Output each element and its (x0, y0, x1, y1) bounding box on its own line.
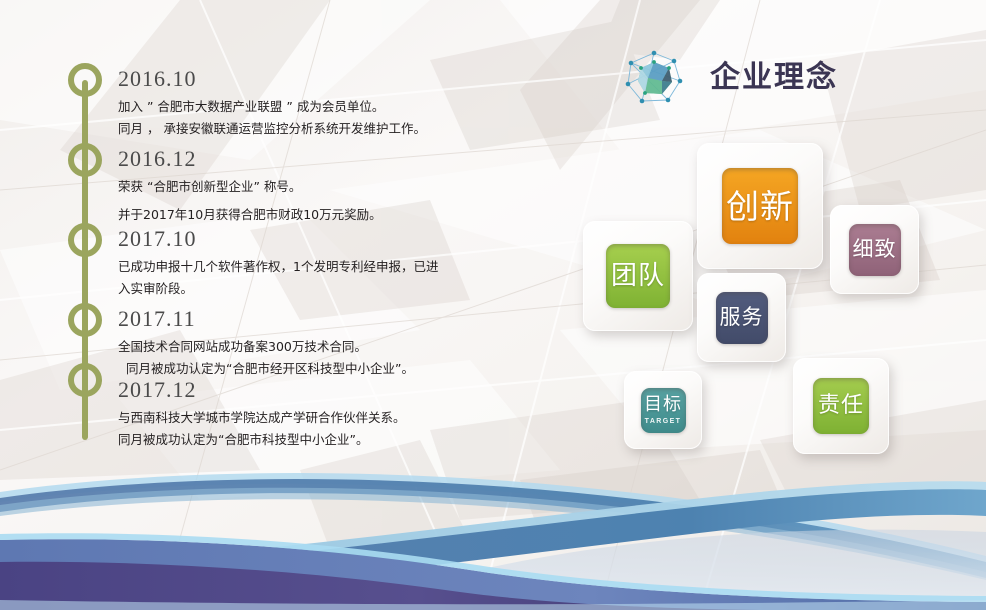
value-card-label: 细致 (853, 239, 897, 260)
timeline-entry: 2016.12 荣获 “合肥市创新型企业” 称号。 并于2017年10月获得合肥… (118, 146, 518, 226)
timeline-entry-body: 加入 ” 合肥市大数据产业联盟 ” 成为会员单位。 同月 ， 承接安徽联通运营监… (118, 96, 518, 140)
timeline-marker-2[interactable] (68, 143, 102, 177)
timeline-entry-body: 全国技术合同网站成功备案300万技术合同。 同月被成功认定为“合肥市经开区科技型… (118, 336, 518, 380)
timeline-detail-line: 全国技术合同网站成功备案300万技术合同。 (118, 336, 518, 358)
timeline-detail-line: 加入 ” 合肥市大数据产业联盟 ” 成为会员单位。 (118, 96, 518, 118)
value-card-meticulous[interactable]: 细致 (830, 205, 919, 294)
timeline-date: 2016.10 (118, 66, 518, 92)
timeline-entry-body: 荣获 “合肥市创新型企业” 称号。 并于2017年10月获得合肥市财政10万元奖… (118, 176, 518, 226)
timeline-detail-line: 与西南科技大学城市学院达成产学研合作伙伴关系。 (118, 407, 518, 429)
timeline-marker-4[interactable] (68, 303, 102, 337)
timeline-entry-body: 已成功申报十几个软件著作权，1个发明专利经申报，已进入实审阶段。 (118, 256, 518, 300)
value-card-label: 目标 (644, 396, 682, 414)
timeline-marker-1[interactable] (68, 63, 102, 97)
timeline-entry: 2017.10 已成功申报十几个软件著作权，1个发明专利经申报，已进入实审阶段。 (118, 226, 518, 300)
value-tile: 创新 (722, 168, 798, 244)
timeline-marker-5[interactable] (68, 363, 102, 397)
value-tile: 细致 (849, 224, 901, 276)
value-tile: 团队 (606, 244, 670, 308)
value-card-innovation[interactable]: 创新 (697, 143, 823, 269)
timeline-date: 2017.12 (118, 377, 518, 403)
value-card-sublabel: TARGET (645, 418, 682, 425)
timeline-entry: 2017.11 全国技术合同网站成功备案300万技术合同。 同月被成功认定为“合… (118, 306, 518, 380)
value-card-team[interactable]: 团队 (583, 221, 693, 331)
page-title: 企业理念 (710, 52, 838, 96)
timeline-detail-line: 同月 ， 承接安徽联通运营监控分析系统开发维护工作。 (118, 118, 518, 140)
timeline-detail-line: 已成功申报十几个软件著作权，1个发明专利经申报，已进入实审阶段。 (118, 256, 448, 300)
value-card-target[interactable]: 目标 TARGET (624, 371, 702, 449)
timeline: 2016.10 加入 ” 合肥市大数据产业联盟 ” 成为会员单位。 同月 ， 承… (0, 0, 520, 470)
timeline-detail-line: 荣获 “合肥市创新型企业” 称号。 (118, 176, 518, 198)
value-card-label: 创新 (726, 190, 794, 223)
timeline-entry: 2017.12 与西南科技大学城市学院达成产学研合作伙伴关系。 同月被成功认定为… (118, 377, 518, 451)
value-card-label: 服务 (720, 307, 764, 328)
timeline-marker-3[interactable] (68, 223, 102, 257)
value-tile: 服务 (716, 292, 768, 344)
value-card-service[interactable]: 服务 (697, 273, 786, 362)
section-header: 企业理念 (618, 48, 958, 110)
timeline-detail-line: 并于2017年10月获得合肥市财政10万元奖励。 (118, 204, 518, 226)
timeline-entry-body: 与西南科技大学城市学院达成产学研合作伙伴关系。 同月被成功认定为“合肥市科技型中… (118, 407, 518, 451)
timeline-entry: 2016.10 加入 ” 合肥市大数据产业联盟 ” 成为会员单位。 同月 ， 承… (118, 66, 518, 140)
value-card-label: 团队 (611, 263, 665, 289)
value-tile: 责任 (813, 378, 869, 434)
value-card-label: 责任 (818, 395, 864, 417)
value-card-responsibility[interactable]: 责任 (793, 358, 889, 454)
timeline-detail-line: 同月被成功认定为“合肥市科技型中小企业”。 (118, 429, 518, 451)
value-tile: 目标 TARGET (641, 388, 686, 433)
timeline-date: 2016.12 (118, 146, 518, 172)
timeline-date: 2017.11 (118, 306, 518, 332)
timeline-date: 2017.10 (118, 226, 518, 252)
polygon-gem-network-icon (618, 48, 690, 110)
slide-canvas: 2016.10 加入 ” 合肥市大数据产业联盟 ” 成为会员单位。 同月 ， 承… (0, 0, 986, 610)
